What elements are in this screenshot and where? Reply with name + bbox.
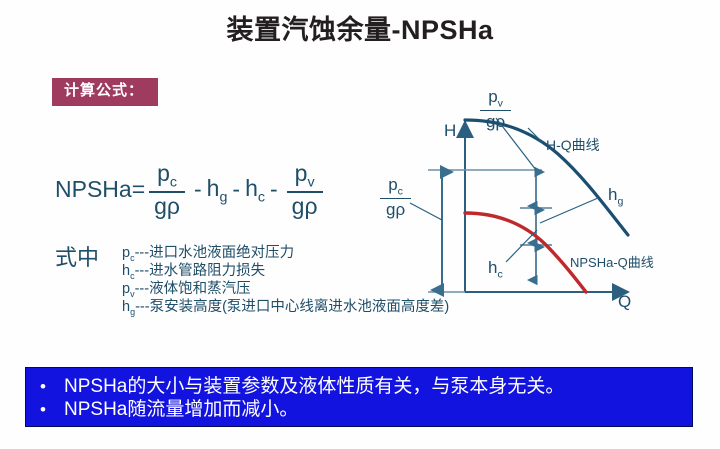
chart-svg [380,80,710,320]
axis-label-q: Q [618,292,631,312]
leader-line-pc [410,203,442,220]
fraction-denominator: gρ [149,191,185,218]
where-label: 式中 [55,240,99,272]
label-hq-curve: H-Q曲线 [546,135,600,155]
npsha-chart: pv gρ pc gρ H Q H-Q曲线 hg hc NPSHa-Q曲线 [380,80,710,320]
bullet-icon: • [40,398,64,421]
fraction-pc-grho: pc gρ [149,162,185,218]
formula-section-tag: 计算公式： [52,78,158,106]
axis-label-h: H [444,121,456,141]
page-title: 装置汽蚀余量-NPSHa [0,8,720,47]
list-item: • NPSHa的大小与装置参数及液体性质有关，与泵本身无关。 [26,375,692,398]
fraction-denominator: gρ [480,110,511,130]
fraction-numerator: pc [382,176,409,198]
formula-lhs: NPSHa= [55,176,145,203]
leader-line-hc [506,230,537,262]
fraction-pv-grho: pv gρ [287,162,323,218]
operator-minus-2: - [232,176,240,203]
term-hg: hg [207,175,228,205]
term-hc: hc [245,175,265,205]
fraction-denominator: gρ [380,198,411,218]
bullet-text: NPSHa的大小与装置参数及液体性质有关，与泵本身无关。 [64,375,564,398]
operator-minus-1: - [194,176,202,203]
fraction-numerator: pv [290,162,320,191]
leader-line-hg [540,198,598,223]
label-npsha-curve: NPSHa-Q曲线 [570,252,654,271]
fraction-numerator: pc [152,162,182,191]
fraction-denominator: gρ [287,191,323,218]
list-item: • NPSHa随流量增加而减小。 [26,398,692,421]
label-pc-over-grho: pc gρ [380,176,411,218]
fraction-numerator: pv [482,88,509,110]
label-hc: hc [488,258,503,280]
label-hg: hg [608,185,623,207]
slide-root: 装置汽蚀余量-NPSHa 计算公式： NPSHa= pc gρ - hg - h… [0,0,720,449]
operator-minus-3: - [270,176,278,203]
bullet-text: NPSHa随流量增加而减小。 [64,398,298,421]
label-pv-over-grho: pv gρ [480,88,511,130]
npsha-formula: NPSHa= pc gρ - hg - hc - pv gρ [55,162,327,218]
summary-banner: • NPSHa的大小与装置参数及液体性质有关，与泵本身无关。 • NPSHa随流… [25,367,693,427]
bullet-icon: • [40,375,64,398]
npsha-curve [465,213,586,292]
